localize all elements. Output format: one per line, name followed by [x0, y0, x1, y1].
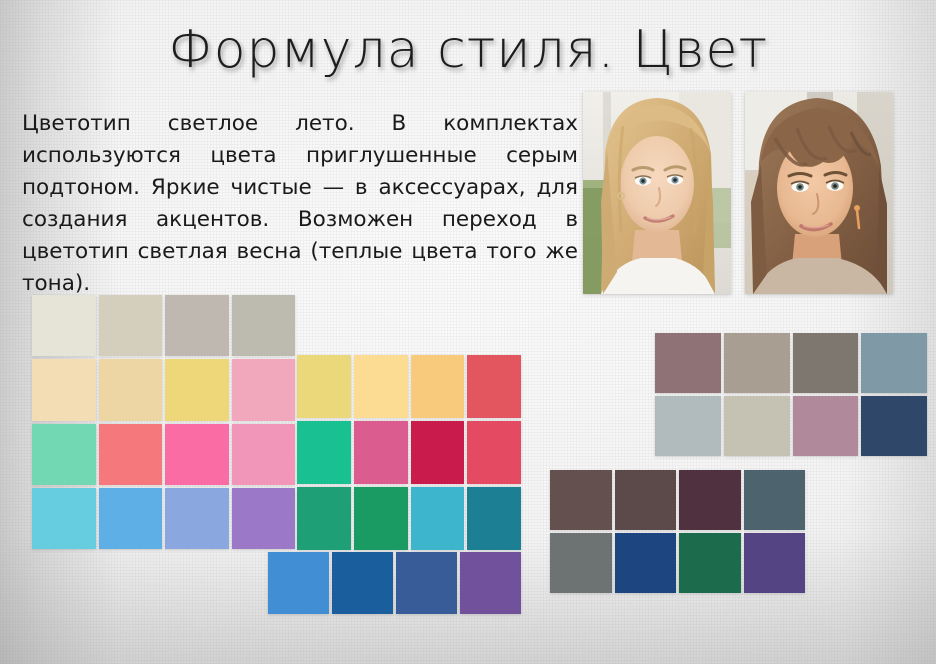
color-swatch — [354, 487, 408, 550]
color-swatch — [396, 552, 457, 614]
color-swatch — [655, 396, 721, 456]
color-swatch — [615, 470, 677, 530]
palette-dark-grid — [550, 470, 805, 593]
color-swatch — [793, 396, 859, 456]
color-swatch — [99, 488, 163, 549]
palette-muted-grid — [655, 333, 927, 456]
color-swatch — [411, 421, 465, 484]
color-swatch — [297, 487, 351, 550]
color-swatch — [165, 359, 229, 420]
palette-saturated-grid — [297, 355, 521, 550]
color-swatch — [744, 470, 806, 530]
color-swatch — [411, 355, 465, 418]
color-swatch — [99, 295, 163, 356]
color-swatch — [655, 333, 721, 393]
color-swatch — [724, 396, 790, 456]
color-swatch — [99, 424, 163, 485]
color-swatch — [793, 333, 859, 393]
color-swatch — [861, 333, 927, 393]
color-swatch — [460, 552, 521, 614]
portrait-blonde-illustration — [583, 92, 731, 294]
color-swatch — [297, 421, 351, 484]
color-swatch — [32, 424, 96, 485]
color-swatch — [232, 424, 296, 485]
color-swatch — [724, 333, 790, 393]
color-swatch — [232, 488, 296, 549]
slide-title: Формула стиля. Цвет — [0, 20, 936, 80]
color-swatch — [165, 295, 229, 356]
palette-bottom-blue-row — [268, 552, 521, 614]
color-swatch — [467, 421, 521, 484]
color-swatch — [550, 470, 612, 530]
color-swatch — [232, 359, 296, 420]
color-swatch — [297, 355, 351, 418]
slide-canvas: Формула стиля. Цвет Цветотип светлое лет… — [0, 0, 936, 664]
color-swatch — [165, 424, 229, 485]
color-swatch — [679, 470, 741, 530]
color-swatch — [32, 359, 96, 420]
palette-pastel-grid — [32, 295, 295, 549]
color-swatch — [99, 359, 163, 420]
color-swatch — [467, 487, 521, 550]
color-swatch — [467, 355, 521, 418]
color-swatch — [32, 295, 96, 356]
color-swatch — [32, 488, 96, 549]
color-swatch — [861, 396, 927, 456]
color-swatch — [744, 533, 806, 593]
color-swatch — [232, 295, 296, 356]
color-swatch — [354, 421, 408, 484]
portrait-brunette-illustration — [745, 92, 893, 294]
color-swatch — [165, 488, 229, 549]
color-swatch — [679, 533, 741, 593]
color-swatch — [332, 552, 393, 614]
color-swatch — [354, 355, 408, 418]
portrait-brunette-woman — [745, 92, 893, 294]
color-swatch — [411, 487, 465, 550]
color-swatch — [615, 533, 677, 593]
color-swatch — [268, 552, 329, 614]
portrait-blonde-woman — [583, 92, 731, 294]
color-swatch — [550, 533, 612, 593]
